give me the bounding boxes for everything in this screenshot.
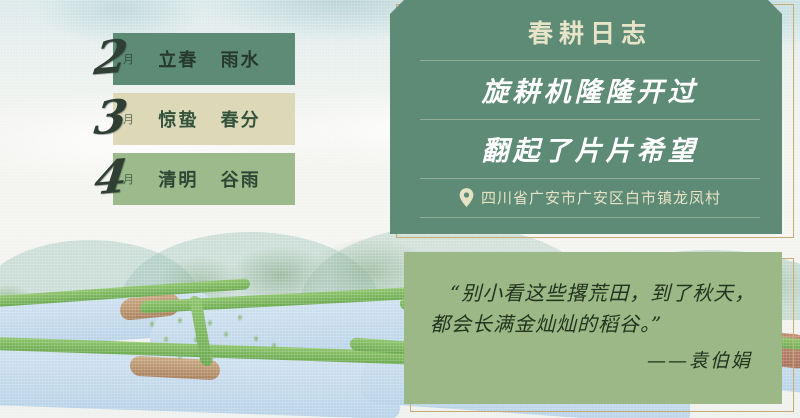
solar-term: 惊蛰	[158, 110, 198, 131]
calendar-row-month-3[interactable]: 3 月 惊蛰 春分	[113, 93, 295, 145]
solar-term: 立春	[158, 50, 198, 71]
journal-line-2: 翻起了片片希望	[420, 120, 760, 178]
journal-location: 四川省广安市广安区白市镇龙凤村	[420, 179, 760, 217]
solar-term: 春分	[221, 110, 261, 131]
journal-content: 春耕日志 旋耕机隆隆开过 翻起了片片希望 四川省广安市广安区白市镇龙凤村	[420, 14, 760, 218]
location-pin-icon	[459, 188, 474, 207]
poster-canvas: 2 月 立春 雨水 3 月 惊蛰 春分 4 月 清明 谷雨	[0, 0, 800, 418]
solar-terms: 惊蛰 春分	[134, 106, 295, 132]
quote-attribution: ——袁伯娟	[404, 340, 782, 373]
journal-card: 春耕日志 旋耕机隆隆开过 翻起了片片希望 四川省广安市广安区白市镇龙凤村	[390, 0, 782, 234]
journal-line-1: 旋耕机隆隆开过	[420, 61, 760, 119]
quote-text: “别小看这些撂荒田，到了秋天，都会长满金灿灿的稻谷。”	[404, 252, 782, 340]
solar-terms: 立春 雨水	[134, 46, 295, 72]
rice-seedlings	[140, 307, 320, 372]
location-text: 四川省广安市广安区白市镇龙凤村	[481, 187, 721, 208]
solar-term-calendar: 2 月 立春 雨水 3 月 惊蛰 春分 4 月 清明 谷雨	[113, 33, 295, 213]
calendar-row-month-2[interactable]: 2 月 立春 雨水	[113, 33, 295, 85]
quote-card: “别小看这些撂荒田，到了秋天，都会长满金灿灿的稻谷。” ——袁伯娟	[404, 252, 782, 404]
month-unit-label: 月	[123, 171, 134, 187]
solar-terms: 清明 谷雨	[134, 166, 295, 192]
divider	[420, 217, 760, 218]
month-unit-label: 月	[123, 51, 134, 67]
solar-term: 谷雨	[221, 170, 261, 191]
solar-term: 雨水	[221, 50, 261, 71]
journal-title: 春耕日志	[420, 14, 760, 50]
solar-term: 清明	[158, 170, 198, 191]
month-unit-label: 月	[123, 111, 134, 127]
calendar-row-month-4[interactable]: 4 月 清明 谷雨	[113, 153, 295, 205]
